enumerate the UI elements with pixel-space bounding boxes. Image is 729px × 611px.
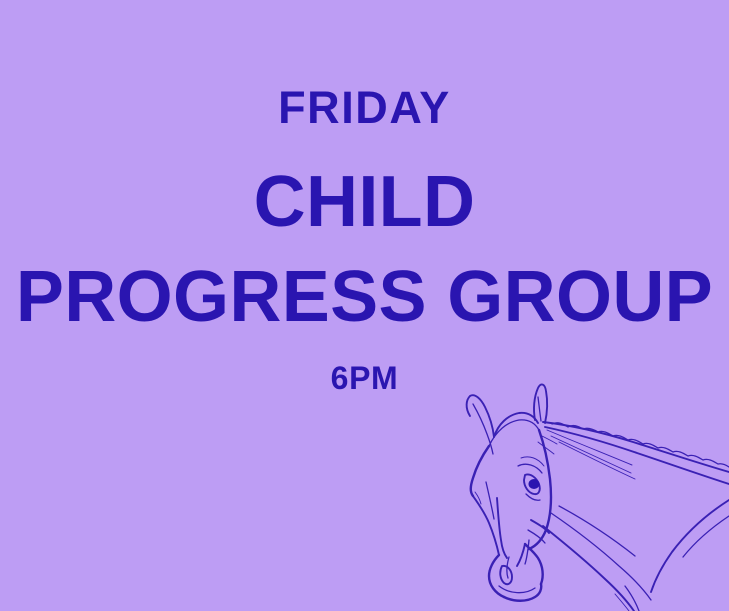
event-title-line-2: PROGRESS GROUP — [0, 261, 729, 333]
event-title-line-1: CHILD — [0, 166, 729, 238]
poster-canvas: FRIDAY CHILD PROGRESS GROUP 6PM — [0, 0, 729, 611]
horse-head-icon — [439, 380, 729, 611]
event-day-label: FRIDAY — [0, 85, 729, 130]
event-time-label: 6PM — [0, 362, 729, 394]
